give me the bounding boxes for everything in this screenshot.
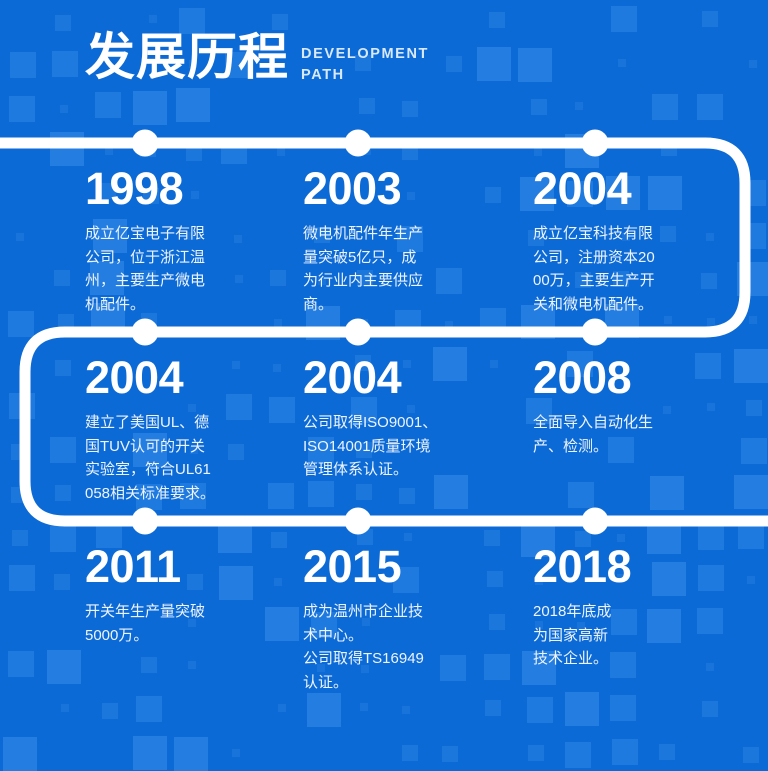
milestone-description: 成立亿宝科技有限 公司，注册资本20 00万，主要生产开 关和微电机配件。 [533, 222, 733, 317]
milestone-year: 2004 [303, 355, 503, 400]
milestone-item: 1998 成立亿宝电子有限 公司，位于浙江温 州，主要生产微电 机配件。 [85, 166, 285, 317]
milestone-description: 2018年底成 为国家高新 技术企业。 [533, 600, 733, 671]
milestone-description: 建立了美国UL、德 国TUV认可的开关 实验室，符合UL61 058相关标准要求… [85, 411, 285, 506]
milestone-grid: 1998 成立亿宝电子有限 公司，位于浙江温 州，主要生产微电 机配件。 200… [0, 0, 768, 721]
milestone-year: 2011 [85, 544, 285, 589]
milestone-year: 2015 [303, 544, 503, 589]
milestone-year: 2008 [533, 355, 733, 400]
milestone-year: 2004 [533, 166, 733, 211]
milestone-description: 开关年生产量突破 5000万。 [85, 600, 285, 647]
milestone-item: 2004 公司取得ISO9001、 ISO14001质量环境 管理体系认证。 [303, 355, 503, 482]
milestone-description: 微电机配件年生产 量突破5亿只，成 为行业内主要供应 商。 [303, 222, 503, 317]
milestone-description: 成立亿宝电子有限 公司，位于浙江温 州，主要生产微电 机配件。 [85, 222, 285, 317]
milestone-item: 2004 成立亿宝科技有限 公司，注册资本20 00万，主要生产开 关和微电机配… [533, 166, 733, 317]
milestone-description: 成为温州市企业技 术中心。 [303, 600, 503, 647]
milestone-item: 2008 全面导入自动化生 产、检测。 [533, 355, 733, 458]
milestone-year: 1998 [85, 166, 285, 211]
milestone-year: 2018 [533, 544, 733, 589]
milestone-item: 2004 建立了美国UL、德 国TUV认可的开关 实验室，符合UL61 058相… [85, 355, 285, 506]
milestone-year: 2003 [303, 166, 503, 211]
milestone-year: 2004 [85, 355, 285, 400]
milestone-description-extra: 公司取得TS16949 认证。 [303, 647, 503, 694]
milestone-item: 2011 开关年生产量突破 5000万。 [85, 544, 285, 647]
milestone-item: 2003 微电机配件年生产 量突破5亿只，成 为行业内主要供应 商。 [303, 166, 503, 317]
milestone-description: 公司取得ISO9001、 ISO14001质量环境 管理体系认证。 [303, 411, 503, 482]
milestone-item: 2018 2018年底成 为国家高新 技术企业。 [533, 544, 733, 671]
milestone-description: 全面导入自动化生 产、检测。 [533, 411, 733, 458]
milestone-item: 2015 成为温州市企业技 术中心。 公司取得TS16949 认证。 [303, 544, 503, 695]
